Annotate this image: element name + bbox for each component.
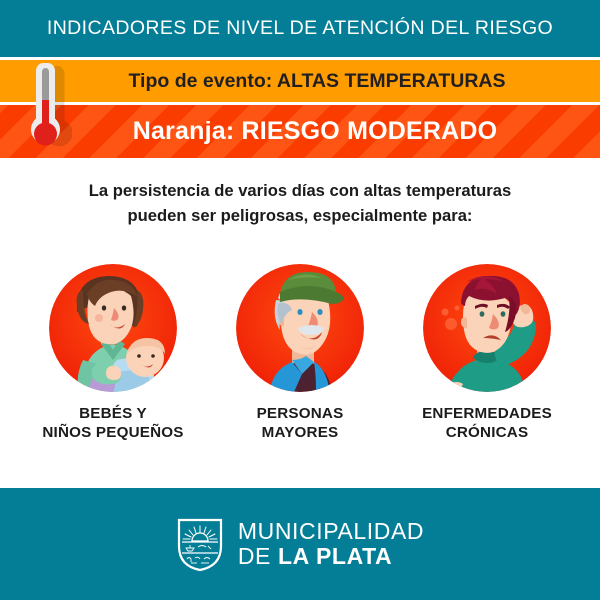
group-label-line-1: PERSONAS: [257, 404, 344, 423]
header-band: INDICADORES DE NIVEL DE ATENCIÓN DEL RIE…: [0, 0, 600, 57]
group-label-line-2: NIÑOS PEQUEÑOS: [42, 423, 183, 442]
footer-logo-lockup: MUNICIPALIDAD DE LA PLATA: [176, 517, 424, 572]
event-type-text: Tipo de evento: ALTAS TEMPERATURAS: [94, 70, 505, 93]
mother-with-baby-icon: [49, 264, 177, 392]
group-label-line-2: MAYORES: [257, 423, 344, 442]
avatar: [236, 264, 364, 392]
group-item-babies: BEBÉS Y NIÑOS PEQUEÑOS: [20, 264, 207, 442]
intro-line-1: La persistencia de varios días con altas…: [0, 178, 600, 203]
risk-level-value: RIESGO MODERADO: [242, 117, 498, 145]
risk-level-color-name: Naranja:: [133, 117, 242, 145]
group-label: ENFERMEDADES CRÓNICAS: [422, 404, 552, 442]
intro-paragraph: La persistencia de varios días con altas…: [0, 178, 600, 228]
risk-level-text: Naranja: RIESGO MODERADO: [103, 117, 498, 146]
risk-level-band: Naranja: RIESGO MODERADO: [0, 105, 600, 158]
footer-line-2-bold: LA PLATA: [278, 543, 392, 569]
footer-band: MUNICIPALIDAD DE LA PLATA: [0, 488, 600, 600]
group-label-line-1: ENFERMEDADES: [422, 404, 552, 423]
footer-line-1: MUNICIPALIDAD: [238, 519, 424, 544]
group-label: PERSONAS MAYORES: [257, 404, 344, 442]
elderly-man-icon: [236, 264, 364, 392]
group-label-line-1: BEBÉS Y: [42, 404, 183, 423]
event-type-band: Tipo de evento: ALTAS TEMPERATURAS: [0, 60, 600, 102]
page-title: INDICADORES DE NIVEL DE ATENCIÓN DEL RIE…: [47, 17, 553, 40]
group-label: BEBÉS Y NIÑOS PEQUEÑOS: [42, 404, 183, 442]
group-item-elderly: PERSONAS MAYORES: [207, 264, 394, 442]
footer-line-2-light: DE: [238, 543, 278, 569]
footer-line-2: DE LA PLATA: [238, 544, 424, 569]
at-risk-groups: BEBÉS Y NIÑOS PEQUEÑOS: [0, 264, 600, 442]
risk-level-infographic: INDICADORES DE NIVEL DE ATENCIÓN DEL RIE…: [0, 0, 600, 600]
avatar: [49, 264, 177, 392]
group-label-line-2: CRÓNICAS: [422, 423, 552, 442]
event-type-label: Tipo de evento:: [128, 70, 276, 92]
avatar: [423, 264, 551, 392]
event-type-value: ALTAS TEMPERATURAS: [277, 70, 506, 92]
la-plata-coat-of-arms-icon: [176, 517, 224, 572]
footer-text: MUNICIPALIDAD DE LA PLATA: [238, 519, 424, 569]
thermometer-icon: [28, 60, 72, 156]
intro-line-2: pueden ser peligrosas, especialmente par…: [0, 203, 600, 228]
sick-person-icon: [423, 264, 551, 392]
group-item-chronic: ENFERMEDADES CRÓNICAS: [394, 264, 581, 442]
